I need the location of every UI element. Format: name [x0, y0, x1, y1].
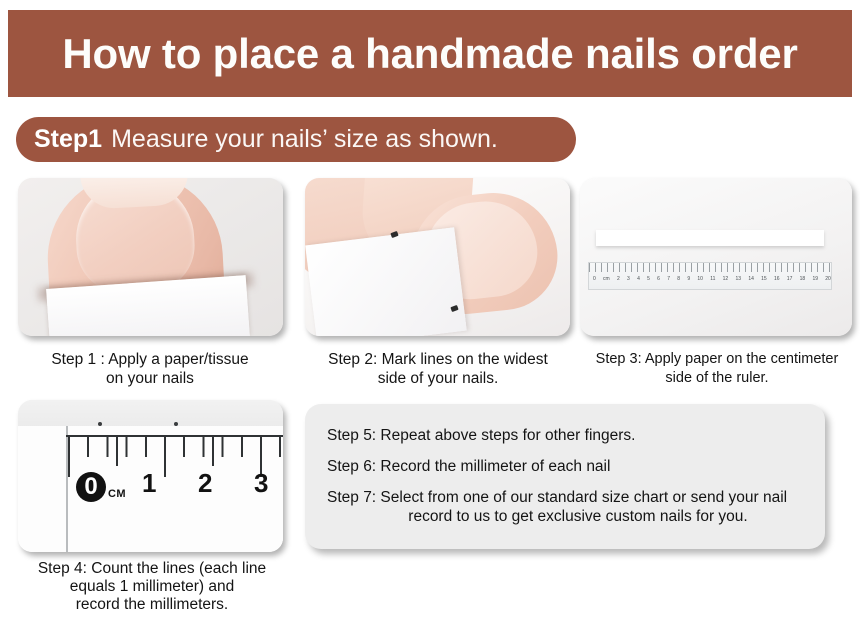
- page-title: How to place a handmade nails order: [62, 33, 797, 75]
- infographic-page: { "header": { "title": "How to place a h…: [0, 0, 860, 631]
- ruler-number: 9: [687, 274, 690, 286]
- ruler-number: 12: [723, 274, 729, 286]
- ruler-number: 3: [627, 274, 630, 286]
- step1-pill: Step1 Measure your nails’ size as shown.: [16, 117, 576, 162]
- photo-card-step4: 0 CM 1 2 3: [18, 400, 283, 552]
- step1-pill-text: Measure your nails’ size as shown.: [111, 127, 498, 152]
- ruler-number: 2: [617, 274, 620, 286]
- ruler-number: 8: [677, 274, 680, 286]
- step1-pill-label: Step1: [34, 127, 102, 152]
- photo-card-step2: [305, 178, 570, 336]
- caption-step1: Step 1 : Apply a paper/tissue on your na…: [10, 350, 290, 388]
- ruler-number: 4: [637, 274, 640, 286]
- caption-step3-line2: side of the ruler.: [578, 369, 856, 388]
- ruler-number: 14: [748, 274, 754, 286]
- caption-step2-line2: side of your nails.: [298, 369, 578, 388]
- ruler-number-row: 0 cm 2 3 4 5 6 7 8 9 10 11 12 13 14 15 1…: [591, 274, 833, 286]
- ruler-mark-2: 2: [198, 470, 212, 496]
- ruler-number: 10: [697, 274, 703, 286]
- steps-panel-step5: Step 5: Repeat above steps for other fin…: [327, 426, 805, 445]
- ruler-number: 16: [774, 274, 780, 286]
- caption-step3-line1: Step 3: Apply paper on the centimeter: [578, 350, 856, 369]
- ruler-number: cm: [603, 274, 610, 286]
- ruler-mark-1: 1: [142, 470, 156, 496]
- paper-strip-shape: [305, 227, 467, 336]
- header-banner: How to place a handmade nails order: [8, 10, 852, 97]
- caption-step4: Step 4: Count the lines (each line equal…: [8, 560, 296, 614]
- caption-step2-line1: Step 2: Mark lines on the widest: [298, 350, 578, 369]
- ruler-pin-dot: [98, 422, 102, 426]
- steps-panel-step6: Step 6: Record the millimeter of each na…: [327, 457, 805, 476]
- caption-step2: Step 2: Mark lines on the widest side of…: [298, 350, 578, 388]
- ruler-unit-label: CM: [108, 488, 126, 500]
- ruler-pin-dot: [174, 422, 178, 426]
- caption-step3: Step 3: Apply paper on the centimeter si…: [578, 350, 856, 388]
- ruler-zero-label: 0: [76, 472, 106, 502]
- photo-card-step3: 0 cm 2 3 4 5 6 7 8 9 10 11 12 13 14 15 1…: [580, 178, 852, 336]
- photo-card-step1: [18, 178, 283, 336]
- steps-panel: Step 5: Repeat above steps for other fin…: [305, 404, 825, 549]
- photo-background: [580, 178, 852, 336]
- ruler-shape: 0 cm 2 3 4 5 6 7 8 9 10 11 12 13 14 15 1…: [588, 262, 832, 290]
- ruler-tick-marks: [589, 263, 831, 272]
- ruler-number: 17: [787, 274, 793, 286]
- caption-step1-line1: Step 1 : Apply a paper/tissue: [10, 350, 290, 369]
- photo-ruler-closeup: 0 CM 1 2 3: [18, 400, 283, 552]
- ruler-number: 11: [710, 274, 715, 286]
- steps-panel-step7-line1: Step 7: Select from one of our standard …: [327, 489, 787, 506]
- ruler-number: 15: [761, 274, 767, 286]
- ruler-number: 13: [735, 274, 741, 286]
- ruler-number: 20: [825, 274, 831, 286]
- ruler-number: 0: [593, 274, 596, 286]
- ruler-number: 5: [647, 274, 650, 286]
- photo-mark-paper: [305, 178, 570, 336]
- paper-strip-shape: [596, 230, 824, 246]
- ruler-number: 19: [812, 274, 818, 286]
- steps-panel-step7: Step 7: Select from one of our standard …: [327, 488, 805, 526]
- ruler-number: 7: [667, 274, 670, 286]
- caption-step4-line1: Step 4: Count the lines (each line: [8, 560, 296, 578]
- ruler-number: 6: [657, 274, 660, 286]
- ruler-mark-3: 3: [254, 470, 268, 496]
- photo-thumb-paper: [18, 178, 283, 336]
- caption-step1-line2: on your nails: [10, 369, 290, 388]
- steps-panel-step7-line2: record to us to get exclusive custom nai…: [327, 507, 799, 526]
- caption-step4-line2: equals 1 millimeter) and: [8, 578, 296, 596]
- photo-ruler-strip: 0 cm 2 3 4 5 6 7 8 9 10 11 12 13 14 15 1…: [580, 178, 852, 336]
- caption-step4-line3: record the millimeters.: [8, 596, 296, 614]
- ruler-number: 18: [800, 274, 806, 286]
- ruler-centimeter-ticks: [68, 437, 283, 477]
